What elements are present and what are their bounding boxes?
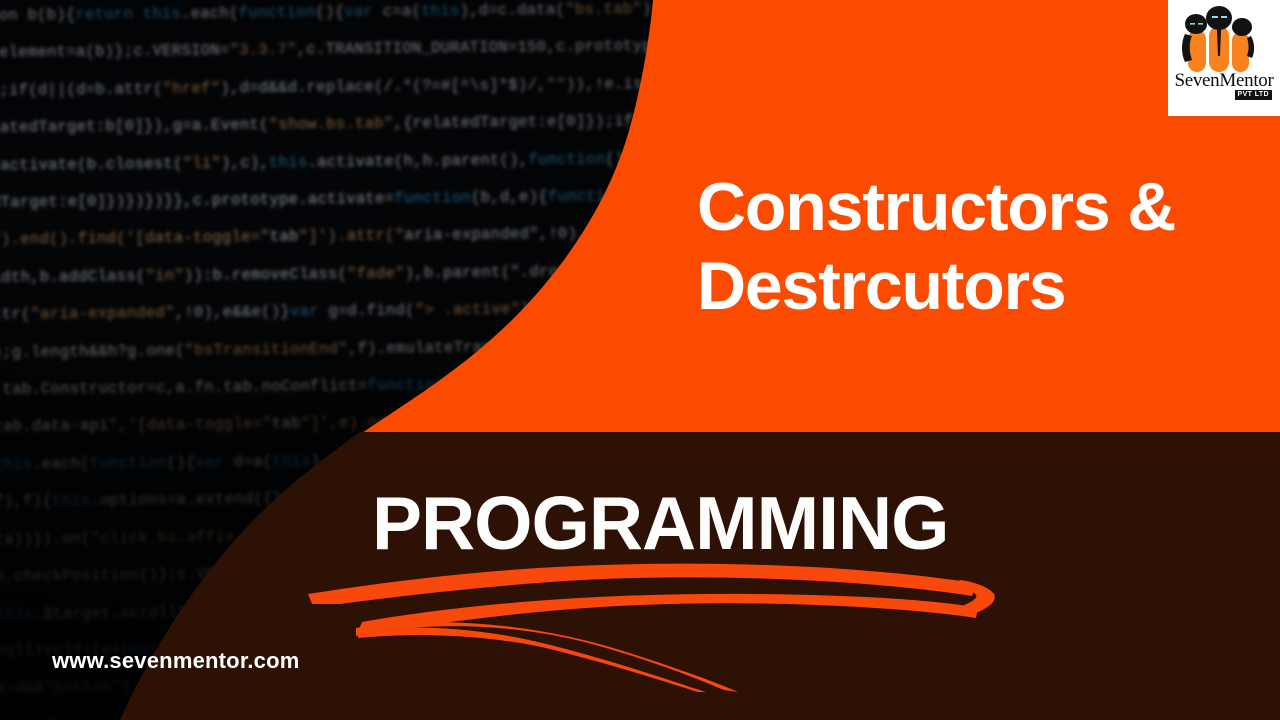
slide-title-line-2: Destrcutors xyxy=(697,247,1217,326)
logo-mark-icon xyxy=(1168,0,1280,80)
slide-title-line-1: Constructors & xyxy=(697,168,1217,247)
slide-title: Constructors & Destrcutors xyxy=(697,168,1217,326)
logo-wordmark: SevenMentor xyxy=(1168,70,1280,92)
logo-eye-left-a xyxy=(1190,23,1195,25)
subject-heading: PROGRAMMING xyxy=(372,486,948,561)
logo-body-right xyxy=(1232,32,1249,72)
presentation-slide: ction b(b){return this.each(function(){v… xyxy=(0,0,1280,720)
brand-logo[interactable]: SevenMentor PVT LTD xyxy=(1168,0,1280,116)
logo-suffix-badge: PVT LTD xyxy=(1235,90,1272,100)
logo-head-right xyxy=(1232,18,1252,36)
logo-eye-left-b xyxy=(1198,23,1203,25)
logo-eye-center-b xyxy=(1221,16,1227,18)
brown-shape xyxy=(120,432,1280,720)
logo-eye-center-a xyxy=(1212,16,1218,18)
logo-head-center xyxy=(1206,6,1232,30)
brown-lower-panel xyxy=(0,432,1280,720)
website-url[interactable]: www.sevenmentor.com xyxy=(52,648,300,674)
logo-head-left xyxy=(1185,14,1207,34)
